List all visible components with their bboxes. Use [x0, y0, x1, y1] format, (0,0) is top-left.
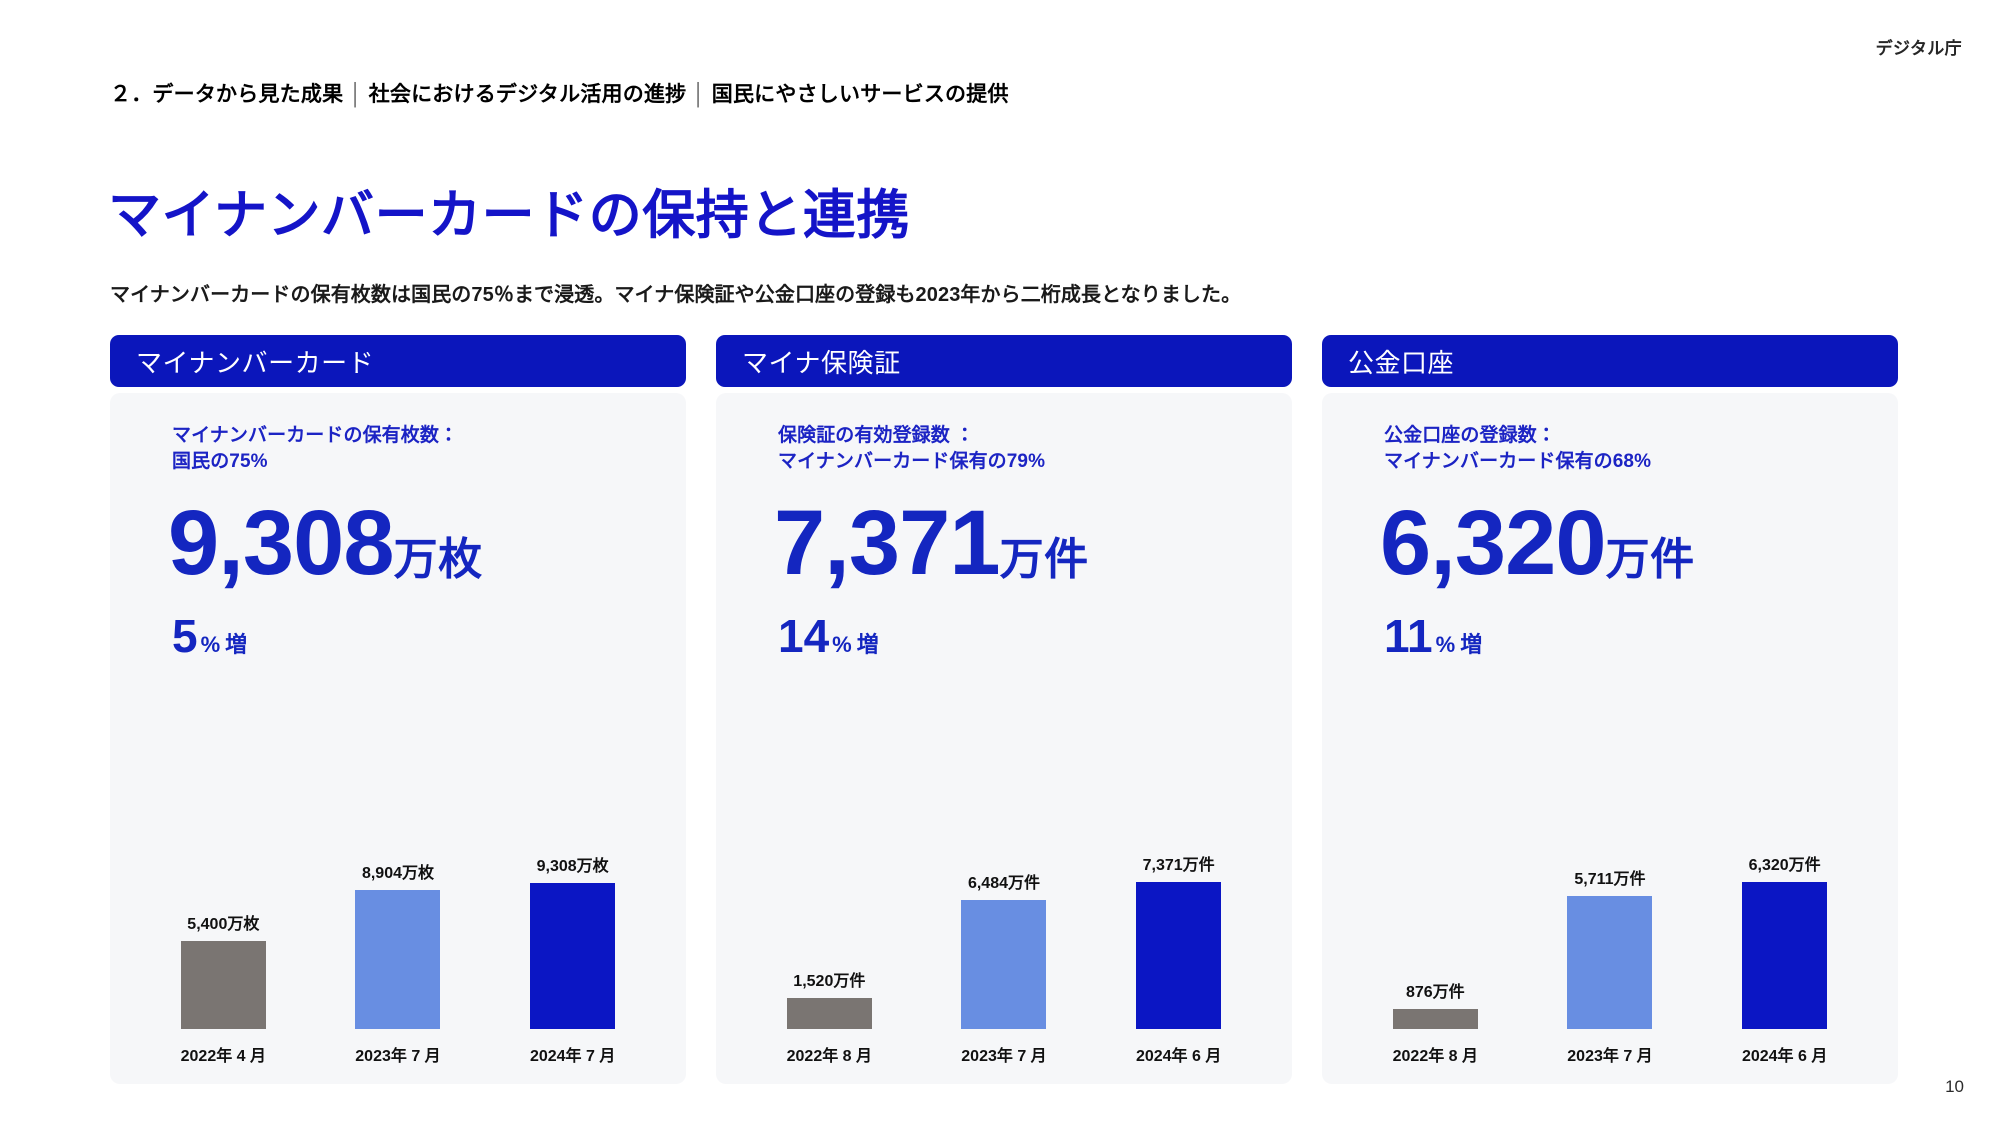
metric-unit: 万件 [1606, 535, 1695, 584]
bar-value-label: 1,520万件 [793, 967, 865, 991]
bar-value-label: 9,308万枚 [537, 852, 609, 876]
metric-number: 7,371 [774, 492, 1000, 594]
metric-delta-word: 増 [1460, 632, 1482, 657]
metric-caption-line-2: マイナンバーカード保有の79% [778, 449, 1292, 475]
metric-delta: 14%増 [778, 613, 1292, 659]
bar-group: 9,308万枚 2024年 7 月 [497, 826, 649, 1066]
bar-group: 6,484万件 2023年 7 月 [928, 826, 1080, 1066]
bar-group: 8,904万枚 2023年 7 月 [322, 826, 474, 1066]
metric-caption-line-1: 保険証の有効登録数 ： [778, 423, 1292, 449]
metric-caption-line-1: マイナンバーカードの保有枚数： [172, 423, 686, 449]
bar-2023 [961, 900, 1046, 1029]
page-title: マイナンバーカードの保持と連携 [108, 189, 910, 242]
metric-card-list: マイナンバーカード マイナンバーカードの保有枚数： 国民の75% 9,308万枚… [110, 335, 1898, 1084]
card-header: マイナ保険証 [716, 335, 1292, 387]
metric-unit: 万件 [1000, 535, 1089, 584]
metric-delta-percent-sign: % [832, 632, 852, 657]
bar-category-label: 2022年 4 月 [181, 1042, 266, 1066]
bar-value-label: 7,371万件 [1143, 851, 1215, 875]
metric-delta-number: 14 [778, 610, 829, 662]
metric-caption: 公金口座の登録数： マイナンバーカード保有の68% [1384, 423, 1898, 475]
bar-2022 [787, 998, 872, 1029]
bar-group: 5,711万件 2023年 7 月 [1534, 826, 1686, 1066]
bar-value-label: 5,711万件 [1574, 865, 1645, 889]
bar-value-label: 876万件 [1406, 978, 1465, 1002]
bar-value-label: 6,484万件 [968, 869, 1040, 893]
bar-value-label: 6,320万件 [1749, 851, 1821, 875]
metric-delta: 5%増 [172, 613, 686, 659]
bar-group: 1,520万件 2022年 8 月 [753, 826, 905, 1066]
metric-card-myna-insurance: マイナ保険証 保険証の有効登録数 ： マイナンバーカード保有の79% 7,371… [716, 335, 1292, 1084]
metric-delta-percent-sign: % [1436, 632, 1456, 657]
card-body: 公金口座の登録数： マイナンバーカード保有の68% 6,320万件 11%増 8… [1322, 393, 1898, 1084]
metric-delta-number: 11 [1384, 610, 1433, 662]
bar-chart: 1,520万件 2022年 8 月 6,484万件 2023年 7 月 7,37… [716, 826, 1292, 1066]
metric-caption: マイナンバーカードの保有枚数： 国民の75% [172, 423, 686, 475]
organization-logo: デジタル庁 [1876, 34, 1962, 59]
bar-2022 [181, 941, 266, 1029]
bar-2024 [1742, 882, 1827, 1029]
bar-chart: 876万件 2022年 8 月 5,711万件 2023年 7 月 6,320万… [1322, 826, 1898, 1066]
page-lede: マイナンバーカードの保有枚数は国民の75％まで浸透。マイナ保険証や公金口座の登録… [110, 278, 1241, 307]
bar-value-label: 5,400万枚 [187, 910, 259, 934]
card-header: マイナンバーカード [110, 335, 686, 387]
bar-category-label: 2024年 6 月 [1136, 1042, 1221, 1066]
bar-group: 7,371万件 2024年 6 月 [1103, 826, 1255, 1066]
metric-card-mynumber-card: マイナンバーカード マイナンバーカードの保有枚数： 国民の75% 9,308万枚… [110, 335, 686, 1084]
bar-category-label: 2022年 8 月 [1393, 1042, 1478, 1066]
metric-number: 9,308 [168, 492, 394, 594]
metric-unit: 万枚 [394, 535, 483, 584]
card-header: 公金口座 [1322, 335, 1898, 387]
bar-2024 [1136, 882, 1221, 1029]
metric-headline-value: 9,308万枚 [168, 497, 686, 589]
bar-2024 [530, 883, 615, 1029]
card-body: マイナンバーカードの保有枚数： 国民の75% 9,308万枚 5%増 5,400… [110, 393, 686, 1084]
metric-headline-value: 7,371万件 [774, 497, 1292, 589]
metric-card-public-account: 公金口座 公金口座の登録数： マイナンバーカード保有の68% 6,320万件 1… [1322, 335, 1898, 1084]
bar-group: 5,400万枚 2022年 4 月 [147, 826, 299, 1066]
bar-category-label: 2022年 8 月 [787, 1042, 872, 1066]
bar-category-label: 2023年 7 月 [961, 1042, 1046, 1066]
bar-group: 6,320万件 2024年 6 月 [1709, 826, 1861, 1066]
breadcrumb-item-1: 社会におけるデジタル活用の進捗 [369, 83, 687, 106]
metric-caption-line-2: 国民の75% [172, 449, 686, 475]
bar-category-label: 2024年 7 月 [530, 1042, 615, 1066]
bar-chart: 5,400万枚 2022年 4 月 8,904万枚 2023年 7 月 9,30… [110, 826, 686, 1066]
bar-category-label: 2023年 7 月 [1567, 1042, 1652, 1066]
metric-delta-word: 増 [857, 632, 879, 657]
metric-headline-value: 6,320万件 [1380, 497, 1898, 589]
bar-category-label: 2024年 6 月 [1742, 1042, 1827, 1066]
metric-caption: 保険証の有効登録数 ： マイナンバーカード保有の79% [778, 423, 1292, 475]
metric-delta: 11%増 [1384, 613, 1898, 659]
metric-delta-word: 増 [225, 632, 247, 657]
bar-category-label: 2023年 7 月 [355, 1042, 440, 1066]
metric-delta-number: 5 [172, 610, 198, 662]
card-body: 保険証の有効登録数 ： マイナンバーカード保有の79% 7,371万件 14%増… [716, 393, 1292, 1084]
breadcrumb-item-2: 国民にやさしいサービスの提供 [712, 83, 1009, 106]
breadcrumb-separator: │ [692, 83, 705, 107]
bar-group: 876万件 2022年 8 月 [1359, 826, 1511, 1066]
breadcrumb: ２．データから見た成果│社会におけるデジタル活用の進捗│国民にやさしいサービスの… [110, 78, 1009, 108]
bar-2022 [1393, 1009, 1478, 1029]
bar-value-label: 8,904万枚 [362, 859, 434, 883]
breadcrumb-separator: │ [349, 83, 362, 107]
metric-caption-line-1: 公金口座の登録数： [1384, 423, 1898, 449]
breadcrumb-item-0: ２．データから見た成果 [110, 83, 343, 106]
metric-delta-percent-sign: % [201, 632, 221, 657]
page-number: 10 [1945, 1077, 1964, 1097]
bar-2023 [1567, 896, 1652, 1029]
metric-caption-line-2: マイナンバーカード保有の68% [1384, 449, 1898, 475]
bar-2023 [355, 890, 440, 1029]
metric-number: 6,320 [1380, 492, 1606, 594]
